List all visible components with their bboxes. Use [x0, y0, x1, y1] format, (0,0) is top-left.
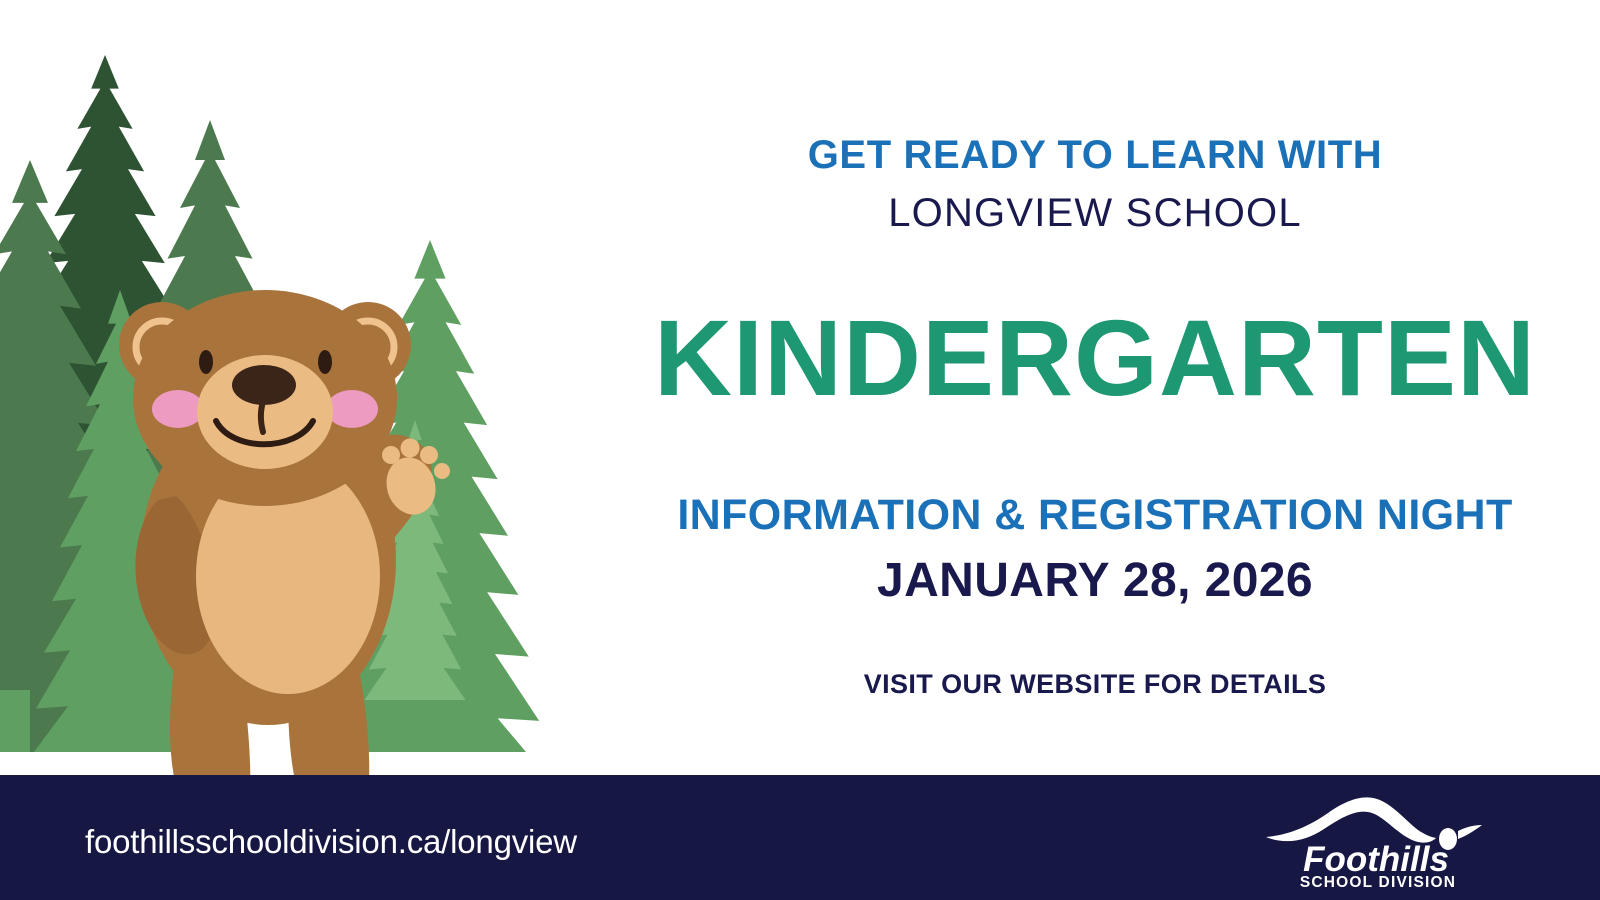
- footer-bar: foothillsschooldivision.ca/longview Foot…: [0, 775, 1600, 900]
- page-title: KINDERGARTEN: [590, 304, 1600, 412]
- foothills-school-division-logo[interactable]: Foothills SCHOOL DIVISION: [1262, 787, 1492, 891]
- website-url-link[interactable]: foothillsschooldivision.ca/longview: [85, 823, 577, 861]
- eyebrow-text: GET READY TO LEARN WITH: [590, 133, 1600, 178]
- school-name: LONGVIEW SCHOOL: [590, 191, 1600, 236]
- event-date: JANUARY 28, 2026: [590, 553, 1600, 608]
- poster-text-column: GET READY TO LEARN WITH LONGVIEW SCHOOL …: [590, 0, 1600, 775]
- event-title: INFORMATION & REGISTRATION NIGHT: [590, 491, 1600, 540]
- call-to-action-text: VISIT OUR WEBSITE FOR DETAILS: [590, 669, 1600, 700]
- kindergarten-registration-poster: GET READY TO LEARN WITH LONGVIEW SCHOOL …: [0, 0, 1600, 900]
- logo-subtitle: SCHOOL DIVISION: [1300, 874, 1456, 891]
- forest-bear-illustration: [0, 0, 580, 800]
